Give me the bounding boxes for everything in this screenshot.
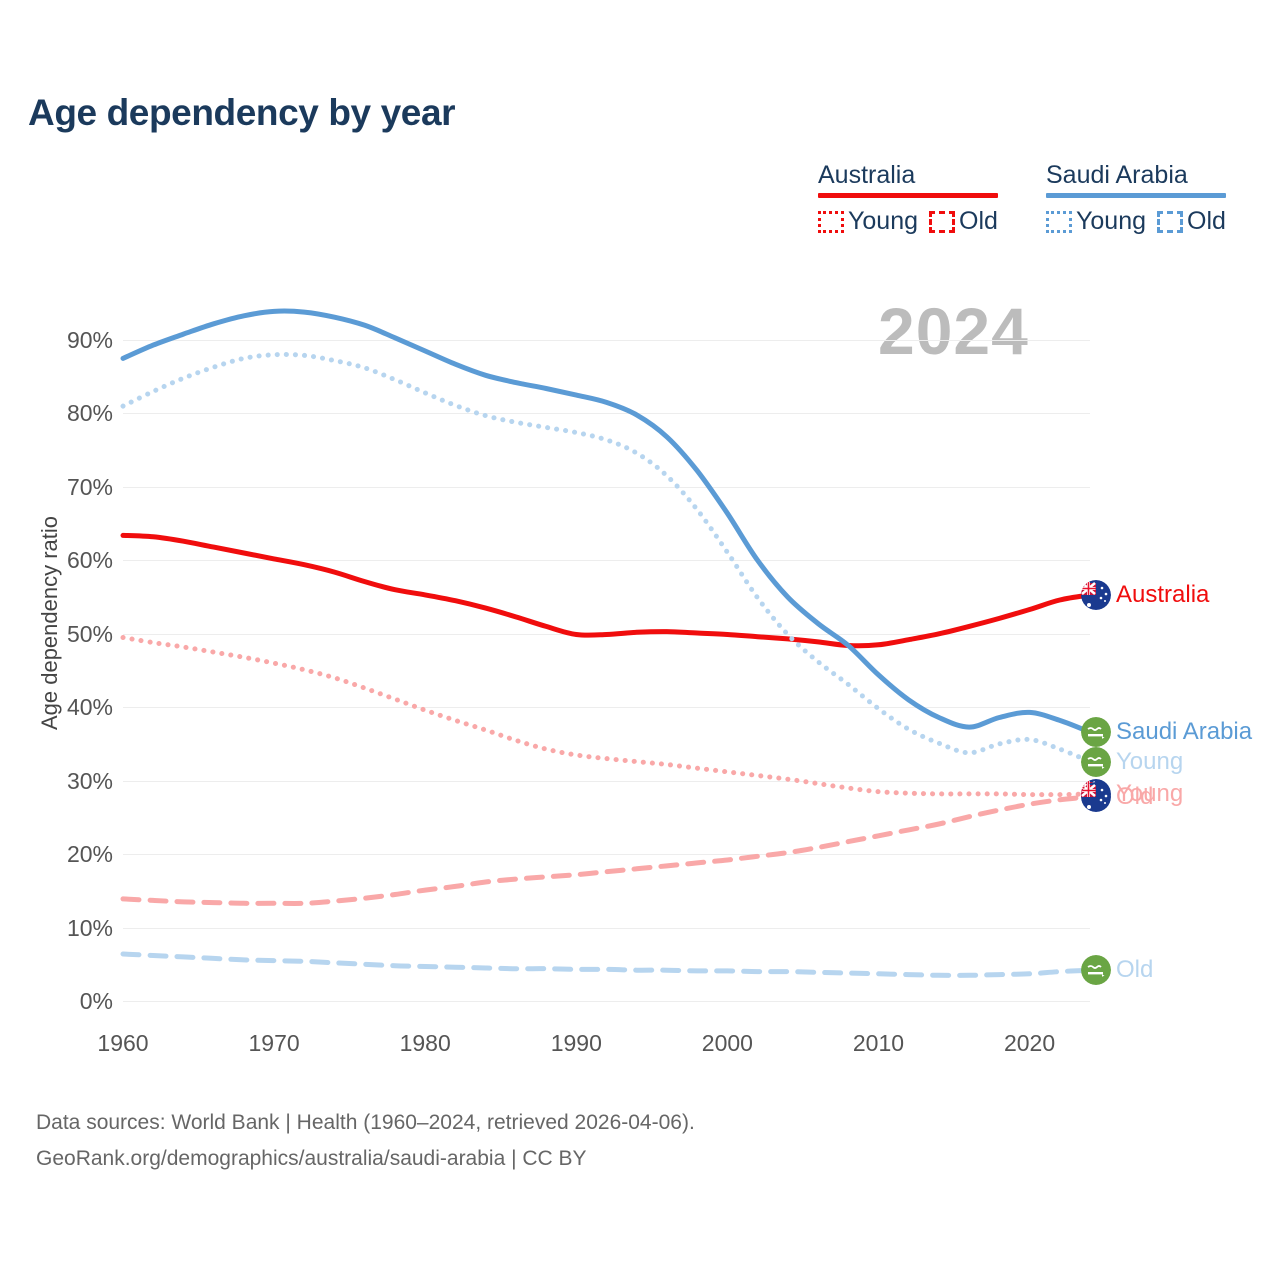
flag-australia-icon [1081, 782, 1111, 812]
gridline [123, 340, 1090, 341]
legend-item-saudi-old[interactable]: Old [1157, 207, 1226, 236]
legend-label-young: Young [1076, 207, 1146, 236]
y-tick-label: 90% [27, 327, 113, 354]
series-line [123, 954, 1090, 975]
end-label-old[interactable]: Old [1081, 955, 1153, 985]
end-label-australia[interactable]: Australia [1081, 580, 1209, 610]
series-line [123, 311, 1090, 732]
x-tick-label: 1960 [97, 1030, 148, 1057]
footer-line-url[interactable]: GeoRank.org/demographics/australia/saudi… [36, 1141, 695, 1177]
gridline [123, 634, 1090, 635]
y-tick-label: 70% [27, 474, 113, 501]
end-label-text: Young [1116, 748, 1183, 776]
end-label-young[interactable]: Young [1081, 747, 1183, 777]
y-tick-label: 0% [27, 988, 113, 1015]
x-tick-label: 2010 [853, 1030, 904, 1057]
gridline [123, 487, 1090, 488]
end-label-text: Saudi Arabia [1116, 718, 1252, 746]
y-tick-label: 30% [27, 768, 113, 795]
x-tick-label: 1990 [551, 1030, 602, 1057]
series-line [123, 638, 1090, 795]
y-tick-label: 10% [27, 915, 113, 942]
flag-saudi-arabia-icon [1081, 747, 1111, 777]
gridline [123, 560, 1090, 561]
y-axis-ticks: 0%10%20%30%40%50%60%70%80%90% [17, 0, 113, 1280]
flag-saudi-arabia-icon [1081, 717, 1111, 747]
end-label-old[interactable]: Old [1081, 782, 1153, 812]
dotted-square-icon [818, 211, 844, 233]
flag-australia-icon [1081, 580, 1111, 610]
series-line [123, 535, 1090, 645]
dashed-square-icon [1157, 211, 1183, 233]
x-tick-label: 2000 [702, 1030, 753, 1057]
footer-line-sources: Data sources: World Bank | Health (1960–… [36, 1105, 695, 1141]
series-line [123, 797, 1090, 904]
legend-rule-australia [818, 193, 998, 198]
end-label-saudi-arabia[interactable]: Saudi Arabia [1081, 717, 1252, 747]
legend-country-saudi-arabia: Saudi Arabia [1046, 160, 1188, 193]
gridline [123, 1001, 1090, 1002]
series-line [123, 354, 1090, 761]
legend-rule-saudi-arabia [1046, 193, 1226, 198]
x-tick-label: 1970 [249, 1030, 300, 1057]
legend-label-old: Old [959, 207, 998, 236]
end-label-text: Old [1116, 783, 1153, 811]
y-axis-title: Age dependency ratio [37, 513, 63, 733]
x-tick-label: 1980 [400, 1030, 451, 1057]
legend-label-young: Young [848, 207, 918, 236]
dotted-square-icon [1046, 211, 1072, 233]
gridline [123, 928, 1090, 929]
end-label-text: Australia [1116, 581, 1209, 609]
x-tick-label: 2020 [1004, 1030, 1055, 1057]
gridline [123, 707, 1090, 708]
dashed-square-icon [929, 211, 955, 233]
year-watermark: 2024 [878, 293, 1029, 369]
legend-group-australia[interactable]: Australia Young Old [818, 160, 998, 236]
legend-group-saudi-arabia[interactable]: Saudi Arabia Young Old [1046, 160, 1226, 236]
legend-item-saudi-young[interactable]: Young [1046, 207, 1146, 236]
legend-item-australia-young[interactable]: Young [818, 207, 918, 236]
gridline [123, 854, 1090, 855]
gridline [123, 781, 1090, 782]
legend-label-old: Old [1187, 207, 1226, 236]
end-label-text: Old [1116, 956, 1153, 984]
legend: Australia Young Old Saudi Arabia [818, 160, 1258, 246]
y-tick-label: 20% [27, 841, 113, 868]
legend-item-australia-old[interactable]: Old [929, 207, 998, 236]
legend-country-australia: Australia [818, 160, 915, 193]
y-tick-label: 80% [27, 400, 113, 427]
flag-saudi-arabia-icon [1081, 955, 1111, 985]
gridline [123, 413, 1090, 414]
footer: Data sources: World Bank | Health (1960–… [36, 1105, 695, 1177]
